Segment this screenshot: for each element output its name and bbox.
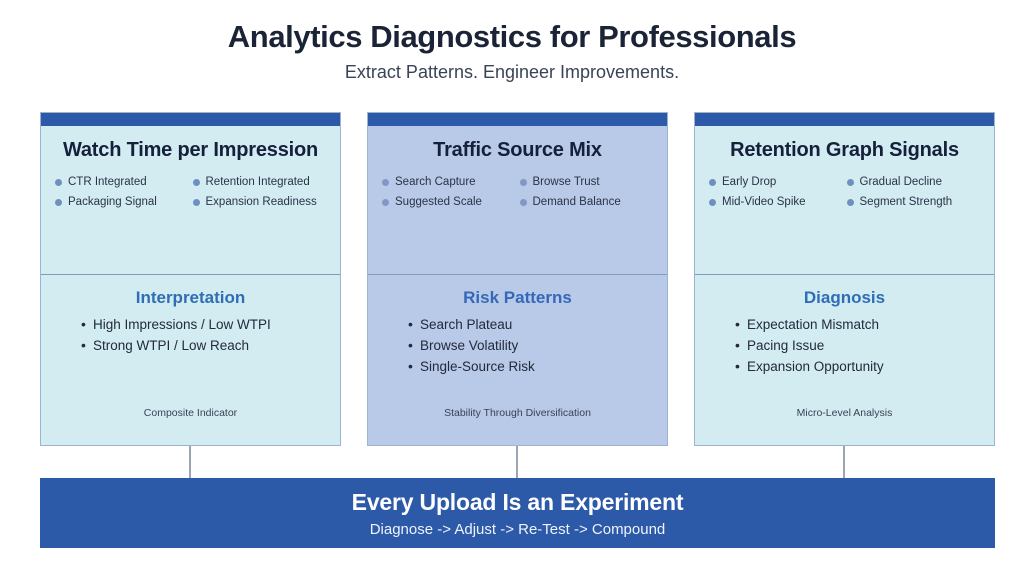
banner-subtitle: Diagnose -> Adjust -> Re-Test -> Compoun… — [370, 521, 666, 538]
bullet-list: Search Plateau Browse Volatility Single-… — [378, 315, 657, 378]
list-item: Browse Volatility — [408, 336, 657, 357]
tag-label: Mid-Video Spike — [722, 196, 806, 209]
bullet-dot-icon — [847, 199, 854, 206]
card-tag-grid: CTR Integrated Retention Integrated Pack… — [51, 176, 330, 208]
bullet-dot-icon — [55, 199, 62, 206]
bullet-dot-icon — [709, 199, 716, 206]
list-item: Expansion Opportunity — [735, 357, 984, 378]
tag-label: Gradual Decline — [860, 176, 942, 189]
card-upper-section: Traffic Source Mix Search Capture Browse… — [368, 126, 667, 275]
card-watch-time-per-impression[interactable]: Watch Time per Impression CTR Integrated… — [40, 112, 341, 446]
tag-label: Demand Balance — [533, 196, 621, 209]
bullet-dot-icon — [55, 179, 62, 186]
tag-item: Segment Strength — [847, 196, 981, 209]
tag-item: Retention Integrated — [193, 176, 327, 189]
tag-item: CTR Integrated — [55, 176, 189, 189]
tag-item: Packaging Signal — [55, 196, 189, 209]
tag-label: Retention Integrated — [206, 176, 310, 189]
section-heading: Diagnosis — [705, 288, 984, 308]
bullet-list: Expectation Mismatch Pacing Issue Expans… — [705, 315, 984, 378]
bullet-dot-icon — [193, 179, 200, 186]
tag-item: Suggested Scale — [382, 196, 516, 209]
card-lower-section: Interpretation High Impressions / Low WT… — [41, 275, 340, 445]
bottom-banner: Every Upload Is an Experiment Diagnose -… — [40, 478, 995, 548]
list-item: High Impressions / Low WTPI — [81, 315, 330, 336]
bullet-dot-icon — [193, 199, 200, 206]
connector-line-card-3 — [843, 446, 845, 479]
tag-label: Search Capture — [395, 176, 476, 189]
card-upper-section: Watch Time per Impression CTR Integrated… — [41, 126, 340, 275]
page-header: Analytics Diagnostics for Professionals … — [0, 0, 1024, 83]
tag-item: Early Drop — [709, 176, 843, 189]
list-item: Search Plateau — [408, 315, 657, 336]
tag-item: Browse Trust — [520, 176, 654, 189]
page-title: Analytics Diagnostics for Professionals — [0, 20, 1024, 54]
cards-row: Watch Time per Impression CTR Integrated… — [40, 112, 995, 446]
tag-label: CTR Integrated — [68, 176, 147, 189]
page-subtitle: Extract Patterns. Engineer Improvements. — [0, 62, 1024, 83]
section-heading: Interpretation — [51, 288, 330, 308]
card-tag-grid: Search Capture Browse Trust Suggested Sc… — [378, 176, 657, 208]
card-lower-section: Risk Patterns Search Plateau Browse Vola… — [368, 275, 667, 445]
tag-label: Expansion Readiness — [206, 196, 317, 209]
list-item: Strong WTPI / Low Reach — [81, 336, 330, 357]
bullet-dot-icon — [709, 179, 716, 186]
list-item: Pacing Issue — [735, 336, 984, 357]
list-item: Single-Source Risk — [408, 357, 657, 378]
connector-line-card-1 — [189, 446, 191, 479]
banner-title: Every Upload Is an Experiment — [352, 489, 684, 516]
card-caption: Composite Indicator — [51, 407, 330, 435]
section-heading: Risk Patterns — [378, 288, 657, 308]
bullet-dot-icon — [382, 199, 389, 206]
tag-label: Browse Trust — [533, 176, 600, 189]
card-caption: Micro-Level Analysis — [705, 407, 984, 435]
bullet-dot-icon — [382, 179, 389, 186]
card-caption: Stability Through Diversification — [378, 407, 657, 435]
tag-item: Demand Balance — [520, 196, 654, 209]
card-title: Retention Graph Signals — [705, 138, 984, 162]
bullet-dot-icon — [520, 179, 527, 186]
connector-line-card-2 — [516, 446, 518, 479]
card-accent-bar — [695, 113, 994, 126]
list-item: Expectation Mismatch — [735, 315, 984, 336]
tag-label: Segment Strength — [860, 196, 953, 209]
card-traffic-source-mix[interactable]: Traffic Source Mix Search Capture Browse… — [367, 112, 668, 446]
tag-item: Gradual Decline — [847, 176, 981, 189]
card-retention-graph-signals[interactable]: Retention Graph Signals Early Drop Gradu… — [694, 112, 995, 446]
bullet-dot-icon — [847, 179, 854, 186]
card-upper-section: Retention Graph Signals Early Drop Gradu… — [695, 126, 994, 275]
card-lower-section: Diagnosis Expectation Mismatch Pacing Is… — [695, 275, 994, 445]
card-title: Traffic Source Mix — [378, 138, 657, 162]
card-accent-bar — [41, 113, 340, 126]
tag-label: Packaging Signal — [68, 196, 157, 209]
tag-item: Mid-Video Spike — [709, 196, 843, 209]
tag-label: Suggested Scale — [395, 196, 482, 209]
card-accent-bar — [368, 113, 667, 126]
tag-item: Expansion Readiness — [193, 196, 327, 209]
card-tag-grid: Early Drop Gradual Decline Mid-Video Spi… — [705, 176, 984, 208]
card-title: Watch Time per Impression — [51, 138, 330, 162]
bullet-dot-icon — [520, 199, 527, 206]
tag-label: Early Drop — [722, 176, 776, 189]
bullet-list: High Impressions / Low WTPI Strong WTPI … — [51, 315, 330, 357]
tag-item: Search Capture — [382, 176, 516, 189]
